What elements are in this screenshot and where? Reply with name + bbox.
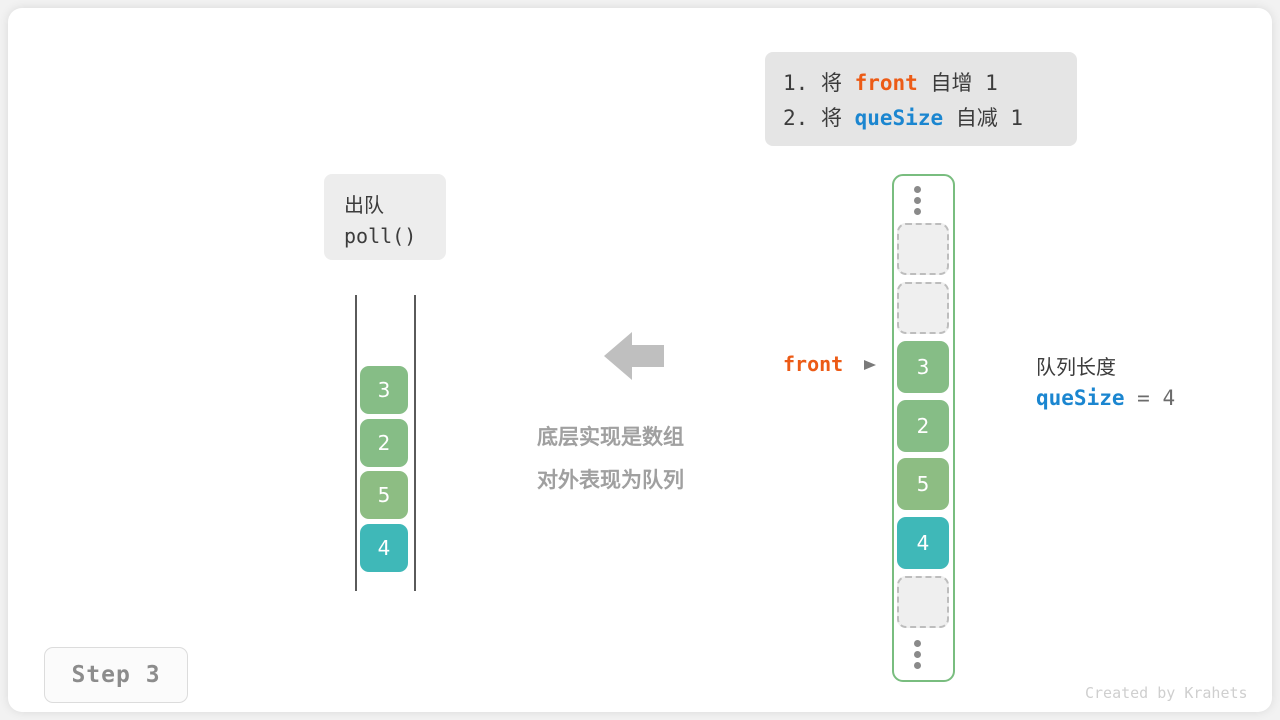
- array-cell: 3: [897, 341, 949, 393]
- array-cell-empty: [897, 223, 949, 275]
- quesize-variable: queSize: [1036, 386, 1125, 410]
- operation-title: 出队: [344, 190, 446, 221]
- step-line-1-index: 1.: [783, 71, 808, 95]
- queue-rail-right: [414, 295, 416, 591]
- step-line-2: 2. 将 queSize 自减 1: [783, 101, 1059, 136]
- vertical-ellipsis-icon-bottom: [914, 640, 934, 676]
- left-arrow-icon: [604, 330, 664, 382]
- step-line-1: 1. 将 front 自增 1: [783, 66, 1059, 101]
- array-cell-empty: [897, 282, 949, 334]
- queue-cell: 2: [360, 419, 408, 467]
- step-line-2-index: 2.: [783, 106, 808, 130]
- step-line-1-keyword: front: [855, 71, 918, 95]
- middle-note-line-2: 对外表现为队列: [537, 463, 737, 497]
- queue-size-title: 队列长度: [1036, 351, 1116, 380]
- operation-method: poll(): [344, 221, 446, 252]
- step-badge: Step 3: [44, 647, 188, 703]
- right-caret-icon: [863, 358, 877, 372]
- step-line-1-prefix: 将: [821, 71, 855, 95]
- vertical-ellipsis-icon-top: [914, 186, 934, 222]
- queue-size-value: queSize = 4: [1036, 386, 1175, 410]
- array-cell-empty: [897, 576, 949, 628]
- front-pointer-label: front: [783, 352, 843, 376]
- step-line-2-suffix: 自减 1: [943, 106, 1023, 130]
- queue-cell: 5: [360, 471, 408, 519]
- credit-text: Created by Krahets: [1085, 684, 1248, 702]
- array-cell: 5: [897, 458, 949, 510]
- step-badge-label: Step 3: [71, 662, 160, 688]
- queue-rail-left: [355, 295, 357, 591]
- quesize-equals: = 4: [1125, 386, 1176, 410]
- queue-cell: 4: [360, 524, 408, 572]
- operation-box: 出队 poll(): [324, 174, 446, 260]
- array-cell: 4: [897, 517, 949, 569]
- steps-callout: 1. 将 front 自增 1 2. 将 queSize 自减 1: [765, 52, 1077, 146]
- middle-note-line-1: 底层实现是数组: [537, 420, 737, 454]
- step-line-2-prefix: 将: [821, 106, 855, 130]
- step-line-1-suffix: 自增 1: [918, 71, 998, 95]
- array-cell: 2: [897, 400, 949, 452]
- queue-cell: 3: [360, 366, 408, 414]
- diagram-canvas: 1. 将 front 自增 1 2. 将 queSize 自减 1 出队 pol…: [8, 8, 1272, 712]
- step-line-2-keyword: queSize: [855, 106, 944, 130]
